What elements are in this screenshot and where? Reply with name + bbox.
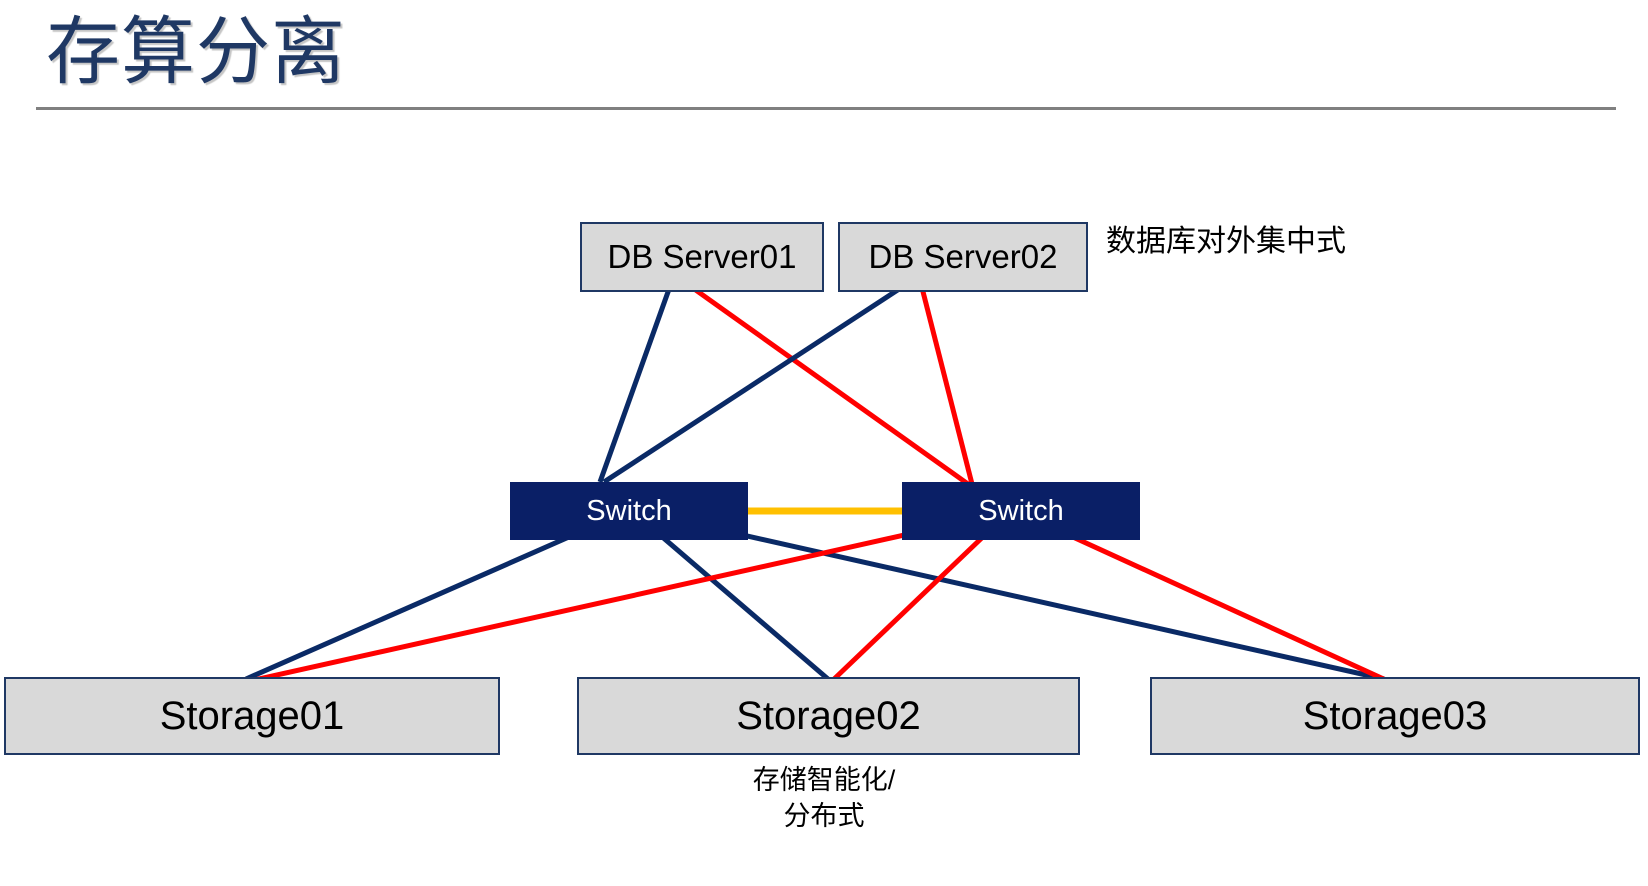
node-storage01[interactable]: Storage01 [4,677,500,755]
node-storage01-label: Storage01 [160,694,345,739]
node-storage03-label: Storage03 [1303,694,1488,739]
annotation-storage-note-line2: 分布式 [700,798,948,834]
link-db01-sw02 [676,276,968,484]
annotation-storage-note-line1: 存储智能化/ [700,762,948,798]
node-db-server01[interactable]: DB Server01 [580,222,824,292]
slide-canvas: 存算分离 DB Server01 DB Server02 Switch Swit… [0,0,1648,886]
node-storage02[interactable]: Storage02 [577,677,1080,755]
node-storage02-label: Storage02 [736,694,921,739]
node-switch-01[interactable]: Switch [510,482,748,540]
annotation-database-note: 数据库对外集中式 [1106,222,1346,262]
link-db01-sw01 [600,278,673,482]
node-storage03[interactable]: Storage03 [1150,677,1640,755]
annotation-storage-note: 存储智能化/ 分布式 [700,762,948,834]
node-switch-02-label: Switch [978,495,1063,528]
link-db02-sw01 [604,278,916,482]
node-db-server02[interactable]: DB Server02 [838,222,1088,292]
node-db-server02-label: DB Server02 [869,238,1058,276]
node-switch-02[interactable]: Switch [902,482,1140,540]
node-switch-01-label: Switch [586,495,671,528]
node-db-server01-label: DB Server01 [608,238,797,276]
